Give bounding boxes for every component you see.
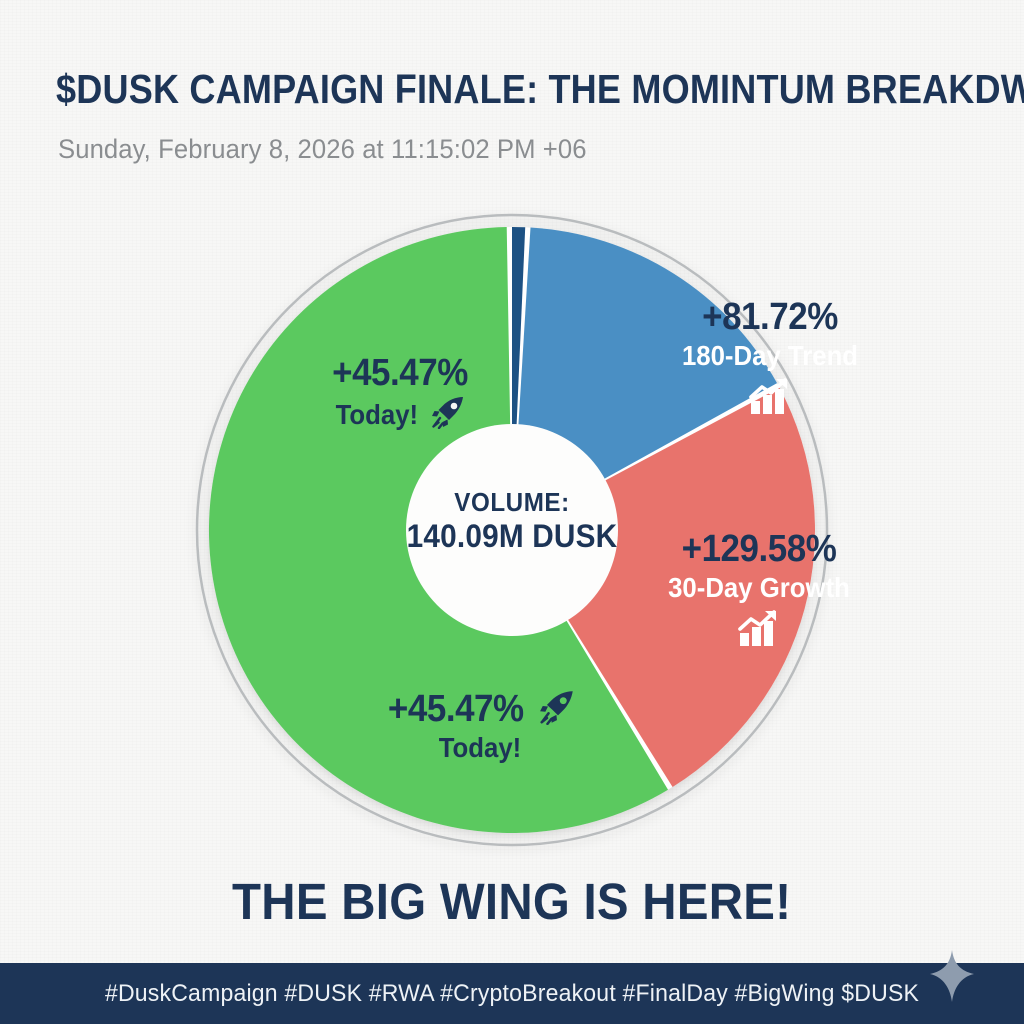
timestamp-subtitle: Sunday, February 8, 2026 at 11:15:02 PM … (58, 134, 587, 165)
hashtag-list-text: #DuskCampaign #DUSK #RWA #CryptoBreakout… (105, 980, 919, 1008)
four-point-star-icon (924, 948, 980, 1004)
cta-headline: THE BIG WING IS HERE! (0, 872, 1024, 931)
chart-center-hub (406, 424, 618, 636)
poster-canvas: $DUSK CAMPAIGN FINALE: THE MOMINTUM BREA… (0, 0, 1024, 1024)
page-title: $DUSK CAMPAIGN FINALE: THE MOMINTUM BREA… (56, 68, 866, 111)
donut-chart-svg (190, 208, 834, 852)
cta-headline-text: THE BIG WING IS HERE! (232, 872, 791, 931)
donut-chart: +81.72% 180-Day Trend +129.58% 30-Day Gr… (190, 208, 834, 852)
hashtag-list: #DuskCampaign #DUSK #RWA #CryptoBreakout… (0, 963, 1024, 1024)
footer-bar: #DuskCampaign #DUSK #RWA #CryptoBreakout… (0, 963, 1024, 1024)
